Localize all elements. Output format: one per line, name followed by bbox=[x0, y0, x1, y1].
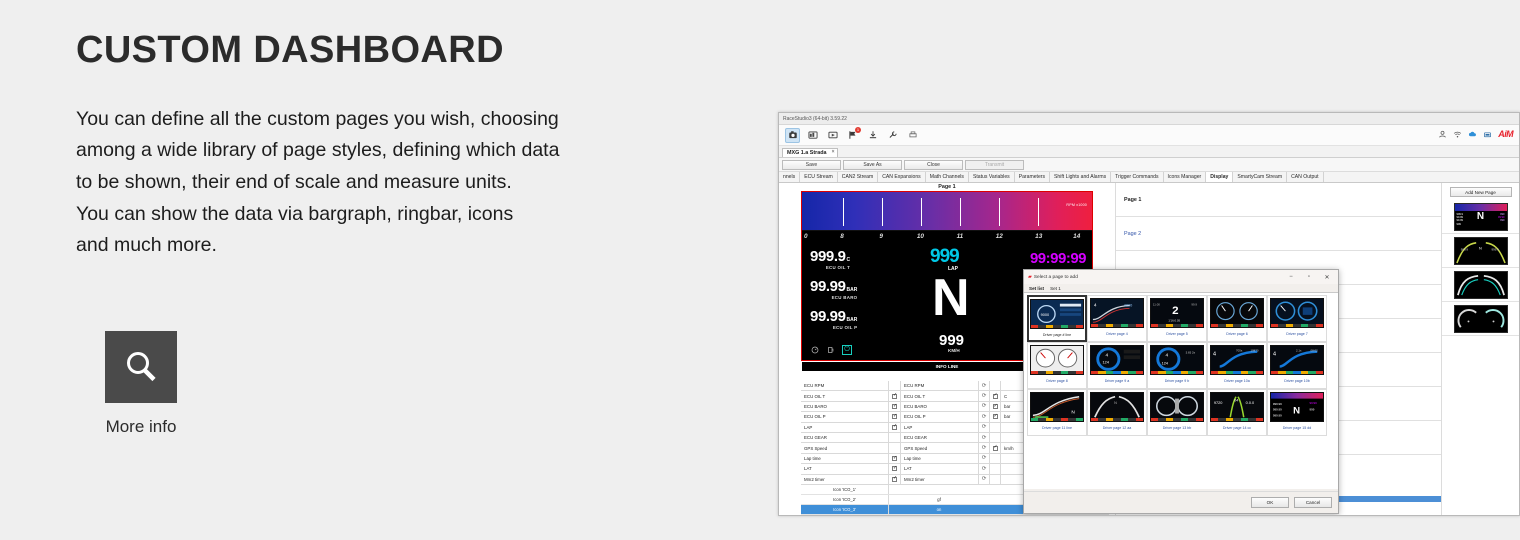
field-name: ECU OIL P bbox=[810, 325, 857, 330]
channel-checkbox[interactable] bbox=[889, 454, 901, 463]
racestudio-app-window: RaceStudio3 (64-bit) 3.59.22 1 bbox=[778, 112, 1520, 516]
svg-text:N: N bbox=[1293, 406, 1300, 417]
tab-can-output[interactable]: CAN Output bbox=[1287, 172, 1323, 182]
close-icon[interactable]: × bbox=[832, 149, 835, 155]
page-style-thumb: 4 124 3.83 2s bbox=[1150, 345, 1204, 375]
add-new-page-button[interactable]: Add New Page bbox=[1450, 187, 1512, 197]
dialog-tab-set-1[interactable]: Set 1 bbox=[1048, 286, 1065, 292]
dialog-titlebar: ▰ Select a page to add − ▫ ✕ bbox=[1024, 270, 1338, 284]
rpm-tick-label: 10 bbox=[917, 233, 924, 240]
icon-row-label: Icon 'ICO_3' bbox=[801, 505, 889, 514]
svg-text:999.9: 999.9 bbox=[1491, 247, 1499, 251]
dashboard-status-icons: ⏻ bbox=[810, 345, 852, 355]
app-toolbar: 1 AiM bbox=[779, 125, 1519, 146]
page-style-cell[interactable]: 4 124 Driver page 9 a bbox=[1087, 342, 1147, 389]
page-style-grid: 9000 Driver page # line bbox=[1024, 293, 1338, 489]
svg-text:0.0.0: 0.0.0 bbox=[1246, 401, 1255, 405]
movie-icon[interactable] bbox=[825, 128, 840, 143]
thumbnail-cell[interactable]: 999.999.9999.99999 N 99999:99999 bbox=[1442, 200, 1519, 234]
channel-target: Mm2 timer bbox=[901, 475, 979, 484]
page-label: Page 2 bbox=[1124, 231, 1141, 237]
svg-text:124: 124 bbox=[1162, 362, 1168, 366]
download-icon[interactable] bbox=[865, 128, 880, 143]
description-line: to be shown, their end of scale and meas… bbox=[76, 167, 736, 199]
page-style-thumb bbox=[1270, 298, 1324, 328]
page-style-cell[interactable]: 9720 0.0.0 04 Driver page 14 cc bbox=[1207, 389, 1267, 436]
svg-text:04: 04 bbox=[1234, 398, 1238, 402]
field-value: 99.99 bbox=[810, 278, 846, 295]
svg-text:2: 2 bbox=[1172, 305, 1178, 317]
svg-text:4: 4 bbox=[1105, 352, 1108, 358]
thumb-page-2: 999.9 999.9 N bbox=[1454, 237, 1508, 265]
thumb-page-3 bbox=[1454, 271, 1508, 299]
page-style-caption: Driver page 7 bbox=[1286, 332, 1308, 336]
unit-checkbox[interactable] bbox=[990, 381, 1001, 390]
svg-text:1'16:0.05: 1'16:0.05 bbox=[1168, 318, 1180, 322]
field-value: 99.99 bbox=[810, 308, 846, 325]
svg-text:11:00: 11:00 bbox=[1153, 303, 1160, 307]
tab-math-channels[interactable]: Math Channels bbox=[926, 172, 969, 182]
description-line: You can define all the custom pages you … bbox=[76, 104, 736, 136]
channel-checkbox[interactable] bbox=[889, 433, 901, 442]
field-name: ECU BARO bbox=[810, 295, 857, 300]
page-style-thumb: N bbox=[1090, 392, 1144, 422]
channel-name: ECU RPM bbox=[801, 381, 889, 390]
tools-icon[interactable] bbox=[885, 128, 900, 143]
channel-checkbox[interactable] bbox=[889, 402, 901, 411]
channel-checkbox[interactable] bbox=[889, 391, 901, 400]
page-style-thumb: 4 705s 19870 bbox=[1210, 345, 1264, 375]
page-title: CUSTOM DASHBOARD bbox=[76, 0, 736, 72]
svg-text:08:02: 08:02 bbox=[1310, 349, 1318, 353]
channel-target: ECU RPM bbox=[901, 381, 979, 390]
page-style-thumb: N bbox=[1030, 392, 1084, 422]
unit-checkbox[interactable] bbox=[990, 454, 1001, 463]
app-icon: ▰ bbox=[1028, 274, 1032, 280]
svg-text:9000: 9000 bbox=[1041, 313, 1050, 317]
more-info-block: More info bbox=[105, 331, 305, 437]
icon-row-label: Icon 'ICO_2' bbox=[801, 495, 889, 504]
rpm-bargraph: RPM x1000 bbox=[802, 192, 1092, 230]
page-style-caption: Driver page 6 bbox=[1226, 332, 1248, 336]
close-button[interactable]: Close bbox=[904, 160, 963, 170]
user-icon[interactable] bbox=[1438, 130, 1447, 139]
page-style-cell[interactable]: Driver page 8 bbox=[1027, 342, 1087, 389]
ok-button[interactable]: OK bbox=[1251, 497, 1289, 508]
tab-display[interactable]: Display bbox=[1206, 172, 1233, 182]
tab-can2-stream[interactable]: CAN2 Stream bbox=[838, 172, 878, 182]
field-name: ECU OIL T bbox=[810, 265, 850, 270]
page-style-thumb: 9720 0.0.0 04 bbox=[1210, 392, 1264, 422]
maximize-icon[interactable]: ▫ bbox=[1300, 270, 1318, 284]
marketing-panel: CUSTOM DASHBOARD You can define all the … bbox=[76, 0, 736, 540]
page-style-thumb bbox=[1030, 345, 1084, 375]
field-unit: BAR bbox=[847, 317, 858, 323]
gauge-icon bbox=[810, 345, 820, 355]
description-line: and much more. bbox=[76, 230, 736, 262]
usb-icon[interactable] bbox=[1483, 130, 1492, 139]
page-style-caption: Driver page 10a bbox=[1224, 379, 1250, 383]
refresh-icon[interactable]: ⟳ bbox=[979, 433, 990, 442]
refresh-icon[interactable]: ⟳ bbox=[979, 423, 990, 432]
save-button[interactable]: Save bbox=[782, 160, 841, 170]
page-style-caption: Driver page 9 b bbox=[1165, 379, 1190, 383]
thumbnail-cell[interactable] bbox=[1442, 268, 1519, 302]
thumb-page-1: 999.999.9999.99999 N 99999:99999 bbox=[1454, 203, 1508, 231]
project-tab-label: MXG 1.a Strada bbox=[787, 150, 827, 156]
refresh-icon[interactable]: ⟳ bbox=[979, 475, 990, 484]
tab-channels[interactable]: nnels bbox=[779, 172, 800, 182]
svg-text:124: 124 bbox=[1103, 361, 1109, 365]
dialog-window-buttons: − ▫ ✕ bbox=[1282, 270, 1336, 284]
channel-name: ECU OIL P bbox=[801, 412, 889, 421]
page-style-caption: Driver page 11 line bbox=[1042, 426, 1072, 430]
thumb-page-4 bbox=[1454, 305, 1508, 333]
field-unit: C bbox=[847, 257, 851, 263]
page-style-cell[interactable]: Driver page 6 bbox=[1207, 295, 1267, 342]
refresh-icon[interactable]: ⟳ bbox=[979, 454, 990, 463]
unit-checkbox[interactable] bbox=[990, 402, 1001, 411]
page-style-caption: Driver page 5 bbox=[1166, 332, 1188, 336]
svg-text:999.9: 999.9 bbox=[1460, 247, 1468, 251]
svg-text:2.1s: 2.1s bbox=[1296, 349, 1302, 353]
page-style-cell[interactable]: N Driver page 11 line bbox=[1027, 389, 1087, 436]
app-window-title: RaceStudio3 (64-bit) 3.59.22 bbox=[783, 116, 847, 122]
channel-name: Lap time bbox=[801, 454, 889, 463]
rpm-scale-row: 0 8 9 10 11 12 13 14 bbox=[802, 230, 1092, 244]
section-tabs: nnels ECU Stream CAN2 Stream CAN Expansi… bbox=[779, 172, 1519, 183]
page-style-cell[interactable]: 4 2.1s 08:02 Driver page 10b bbox=[1267, 342, 1327, 389]
rpm-scale-caption: RPM x1000 bbox=[1066, 203, 1087, 207]
channel-target: ECU GEAR bbox=[901, 433, 979, 442]
rpm-tick-label: 12 bbox=[996, 233, 1003, 240]
svg-text:4800: 4800 bbox=[1124, 304, 1133, 308]
unit-checkbox[interactable] bbox=[990, 391, 1001, 400]
refresh-icon[interactable]: ⟳ bbox=[979, 412, 990, 421]
alert-badge: 1 bbox=[855, 127, 861, 133]
svg-text:4: 4 bbox=[1213, 351, 1216, 357]
tab-shift-lights-and-alarms[interactable]: Shift Lights and Alarms bbox=[1050, 172, 1111, 182]
channel-target: GPS Speed bbox=[901, 443, 979, 452]
alert-flag-icon[interactable]: 1 bbox=[845, 128, 860, 143]
channel-name: GPS Speed bbox=[801, 443, 889, 452]
dialog-footer: OK Cancel bbox=[1024, 491, 1338, 513]
unit-checkbox[interactable] bbox=[990, 464, 1001, 473]
rpm-tick-label: 0 bbox=[804, 233, 808, 240]
unit-checkbox[interactable] bbox=[990, 475, 1001, 484]
svg-text:4: 4 bbox=[1165, 352, 1168, 358]
grid-row: Driver page 8 4 124 Dri bbox=[1027, 342, 1335, 389]
fuel-icon bbox=[826, 345, 836, 355]
project-tab[interactable]: MXG 1.a Strada × bbox=[782, 148, 838, 157]
magnifier-icon bbox=[121, 347, 161, 387]
svg-text:4: 4 bbox=[1273, 351, 1276, 357]
rpm-tick-label: 8 bbox=[840, 233, 844, 240]
channel-name: ECU BARO bbox=[801, 402, 889, 411]
page-style-cell[interactable]: Driver page 7 bbox=[1267, 295, 1327, 342]
page-style-caption: Driver page 4 bbox=[1106, 332, 1128, 336]
svg-text:99.9: 99.9 bbox=[1191, 303, 1197, 307]
cloud-icon[interactable] bbox=[1468, 130, 1477, 139]
grid-row: 9000 Driver page # line bbox=[1027, 295, 1335, 342]
power-icon: ⏻ bbox=[842, 345, 852, 355]
svg-text:999.99: 999.99 bbox=[1273, 402, 1282, 406]
minimize-icon[interactable]: − bbox=[1282, 270, 1300, 284]
unit-checkbox[interactable] bbox=[990, 412, 1001, 421]
project-tabstrip: MXG 1.a Strada × bbox=[779, 146, 1519, 158]
cancel-button[interactable]: Cancel bbox=[1294, 497, 1332, 508]
tab-smartycam-stream[interactable]: SmartyCam Stream bbox=[1233, 172, 1287, 182]
list-item[interactable]: Page 1 bbox=[1116, 183, 1441, 217]
refresh-icon[interactable]: ⟳ bbox=[979, 443, 990, 452]
rpm-tick-label: 11 bbox=[957, 233, 964, 240]
tab-can-expansions[interactable]: CAN Expansions bbox=[878, 172, 926, 182]
page-style-thumb: 4 124 bbox=[1090, 345, 1144, 375]
channel-name: ECU GEAR bbox=[801, 433, 889, 442]
speed-unit: KM/H bbox=[948, 348, 960, 353]
svg-text:9720: 9720 bbox=[1214, 401, 1223, 405]
app-status-icons: AiM bbox=[1438, 129, 1513, 139]
refresh-icon[interactable]: ⟳ bbox=[979, 464, 990, 473]
refresh-icon[interactable]: ⟳ bbox=[979, 391, 990, 400]
channel-checkbox[interactable] bbox=[889, 412, 901, 421]
analysis-icon[interactable] bbox=[805, 128, 820, 143]
page-style-cell[interactable]: Driver page 13 bb bbox=[1147, 389, 1207, 436]
svg-text:705s: 705s bbox=[1236, 349, 1243, 353]
page-style-caption: Driver page 12 aa bbox=[1103, 426, 1132, 430]
refresh-icon[interactable]: ⟳ bbox=[979, 381, 990, 390]
icon-row-value: gf bbox=[889, 495, 989, 504]
page-style-thumb bbox=[1210, 298, 1264, 328]
page-style-caption: Driver page 9 a bbox=[1105, 379, 1130, 383]
tab-parameters[interactable]: Parameters bbox=[1015, 172, 1050, 182]
unit-checkbox[interactable] bbox=[990, 433, 1001, 442]
svg-text:19870: 19870 bbox=[1250, 349, 1258, 353]
svg-text:N: N bbox=[1114, 401, 1117, 405]
svg-text:N: N bbox=[1479, 246, 1482, 250]
wifi-icon[interactable] bbox=[1453, 130, 1462, 139]
channel-checkbox[interactable] bbox=[889, 381, 901, 390]
description-line: You can show the data via bargraph, ring… bbox=[76, 199, 736, 231]
page-style-cell[interactable]: 999.99 999.99 999.99 N 99:99 999 Driver … bbox=[1267, 389, 1327, 436]
description-line: among a wide library of page styles, def… bbox=[76, 135, 736, 167]
page-style-thumb: 4 4800 bbox=[1090, 298, 1144, 328]
page-style-caption: Driver page # line bbox=[1043, 333, 1071, 337]
lap-number: 999 bbox=[930, 246, 959, 268]
svg-text:999.99: 999.99 bbox=[1273, 413, 1282, 417]
page-style-cell[interactable]: 4 4800 Driver page 4 bbox=[1087, 295, 1147, 342]
icon-row-label: Icon 'ICO_1' bbox=[801, 485, 889, 494]
svg-text:3.83 2s: 3.83 2s bbox=[1186, 351, 1196, 355]
more-info-label: More info bbox=[105, 417, 177, 437]
channel-target: LAP bbox=[901, 423, 979, 432]
description-text: You can define all the custom pages you … bbox=[76, 104, 736, 262]
select-page-dialog: ▰ Select a page to add − ▫ ✕ Set list Se… bbox=[1023, 269, 1339, 514]
grid-row: N Driver page 11 line N bbox=[1027, 389, 1335, 436]
rpm-tick-label: 13 bbox=[1035, 233, 1042, 240]
page-style-cell[interactable]: 9000 Driver page # line bbox=[1027, 295, 1087, 342]
page-style-caption: Driver page 15 dd bbox=[1283, 426, 1312, 430]
channel-name: LAP bbox=[801, 423, 889, 432]
dialog-tabs: Set list Set 1 bbox=[1024, 284, 1338, 293]
page-style-cell[interactable]: 4 124 3.83 2s Driver page 9 b bbox=[1147, 342, 1207, 389]
svg-text:999: 999 bbox=[1310, 408, 1315, 412]
svg-text:999.99: 999.99 bbox=[1273, 408, 1282, 412]
transmit-button[interactable]: Transmit bbox=[965, 160, 1024, 170]
svg-text:99:99: 99:99 bbox=[1310, 401, 1318, 405]
channel-checkbox[interactable] bbox=[889, 475, 901, 484]
thumbnail-cell[interactable]: 999.9 999.9 N bbox=[1442, 234, 1519, 268]
rpm-tick-label: 14 bbox=[1073, 233, 1080, 240]
rpm-tick-label: 9 bbox=[879, 233, 883, 240]
channel-target: LAT bbox=[901, 464, 979, 473]
page-style-caption: Driver page 14 cc bbox=[1223, 426, 1251, 430]
page-style-caption: Driver page 13 bb bbox=[1163, 426, 1192, 430]
page-style-thumb: 4 2.1s 08:02 bbox=[1270, 345, 1324, 375]
refresh-icon[interactable]: ⟳ bbox=[979, 402, 990, 411]
tab-icons-manager[interactable]: Icons Manager bbox=[1164, 172, 1207, 182]
channel-name: ECU OIL T bbox=[801, 391, 889, 400]
save-as-button[interactable]: Save As bbox=[843, 160, 902, 170]
page-style-thumb: 9000 bbox=[1030, 299, 1084, 329]
dialog-title: Select a page to add bbox=[1034, 275, 1078, 280]
thumbnail-cell[interactable] bbox=[1442, 302, 1519, 336]
channel-target: Lap time bbox=[901, 454, 979, 463]
page-style-cell[interactable]: N Driver page 12 aa bbox=[1087, 389, 1147, 436]
page-style-thumb: 2 11:00 99.9 1'16:0.05 bbox=[1150, 298, 1204, 328]
unit-checkbox[interactable] bbox=[990, 443, 1001, 452]
list-item[interactable]: Page 2 bbox=[1116, 217, 1441, 251]
channel-checkbox[interactable] bbox=[889, 443, 901, 452]
field-value: 999.9 bbox=[810, 248, 846, 265]
icon-row-value bbox=[889, 485, 989, 494]
page-style-cell[interactable]: 2 11:00 99.9 1'16:0.05 Driver page 5 bbox=[1147, 295, 1207, 342]
channel-target: ECU OIL P bbox=[901, 412, 979, 421]
device-config-icon[interactable] bbox=[785, 128, 800, 143]
page-style-caption: Driver page 8 bbox=[1046, 379, 1068, 383]
page-style-cell[interactable]: 4 705s 19870 Driver page 10a bbox=[1207, 342, 1267, 389]
close-icon[interactable]: ✕ bbox=[1318, 270, 1336, 284]
channel-target: ECU BARO bbox=[901, 402, 979, 411]
svg-text:4: 4 bbox=[1094, 303, 1097, 309]
lap-time-value: 99:99:99 bbox=[1030, 250, 1086, 267]
field-unit: BAR bbox=[847, 287, 858, 293]
unit-checkbox[interactable] bbox=[990, 423, 1001, 432]
page-thumbnail-rail: Add New Page 999.999.9999.99999 N 99999:… bbox=[1441, 183, 1519, 516]
speed-value: 999 bbox=[939, 332, 964, 349]
svg-text:N: N bbox=[1071, 410, 1075, 416]
tab-status-variables[interactable]: Status Variables bbox=[969, 172, 1015, 182]
channel-target: ECU OIL T bbox=[901, 391, 979, 400]
app-titlebar: RaceStudio3 (64-bit) 3.59.22 bbox=[779, 113, 1519, 125]
tab-trigger-commands[interactable]: Trigger Commands bbox=[1111, 172, 1163, 182]
aim-logo: AiM bbox=[1498, 129, 1513, 139]
channel-checkbox[interactable] bbox=[889, 464, 901, 473]
page-label: Page 1 bbox=[1124, 197, 1141, 203]
gear-indicator: N bbox=[932, 272, 970, 324]
channel-checkbox[interactable] bbox=[889, 423, 901, 432]
icon-row-value: on bbox=[889, 505, 989, 514]
preview-page-label: Page 1 bbox=[779, 183, 1115, 191]
page-style-thumb bbox=[1150, 392, 1204, 422]
dialog-tab-set-list[interactable]: Set list bbox=[1027, 286, 1048, 292]
page-style-caption: Driver page 10b bbox=[1284, 379, 1310, 383]
more-info-button[interactable] bbox=[105, 331, 177, 403]
channel-name: Mm2 timer bbox=[801, 475, 889, 484]
channel-name: LAT bbox=[801, 464, 889, 473]
action-button-row: Save Save As Close Transmit bbox=[779, 158, 1519, 172]
print-icon[interactable] bbox=[905, 128, 920, 143]
tab-ecu-stream[interactable]: ECU Stream bbox=[800, 172, 838, 182]
page-style-thumb: 999.99 999.99 999.99 N 99:99 999 bbox=[1270, 392, 1324, 422]
